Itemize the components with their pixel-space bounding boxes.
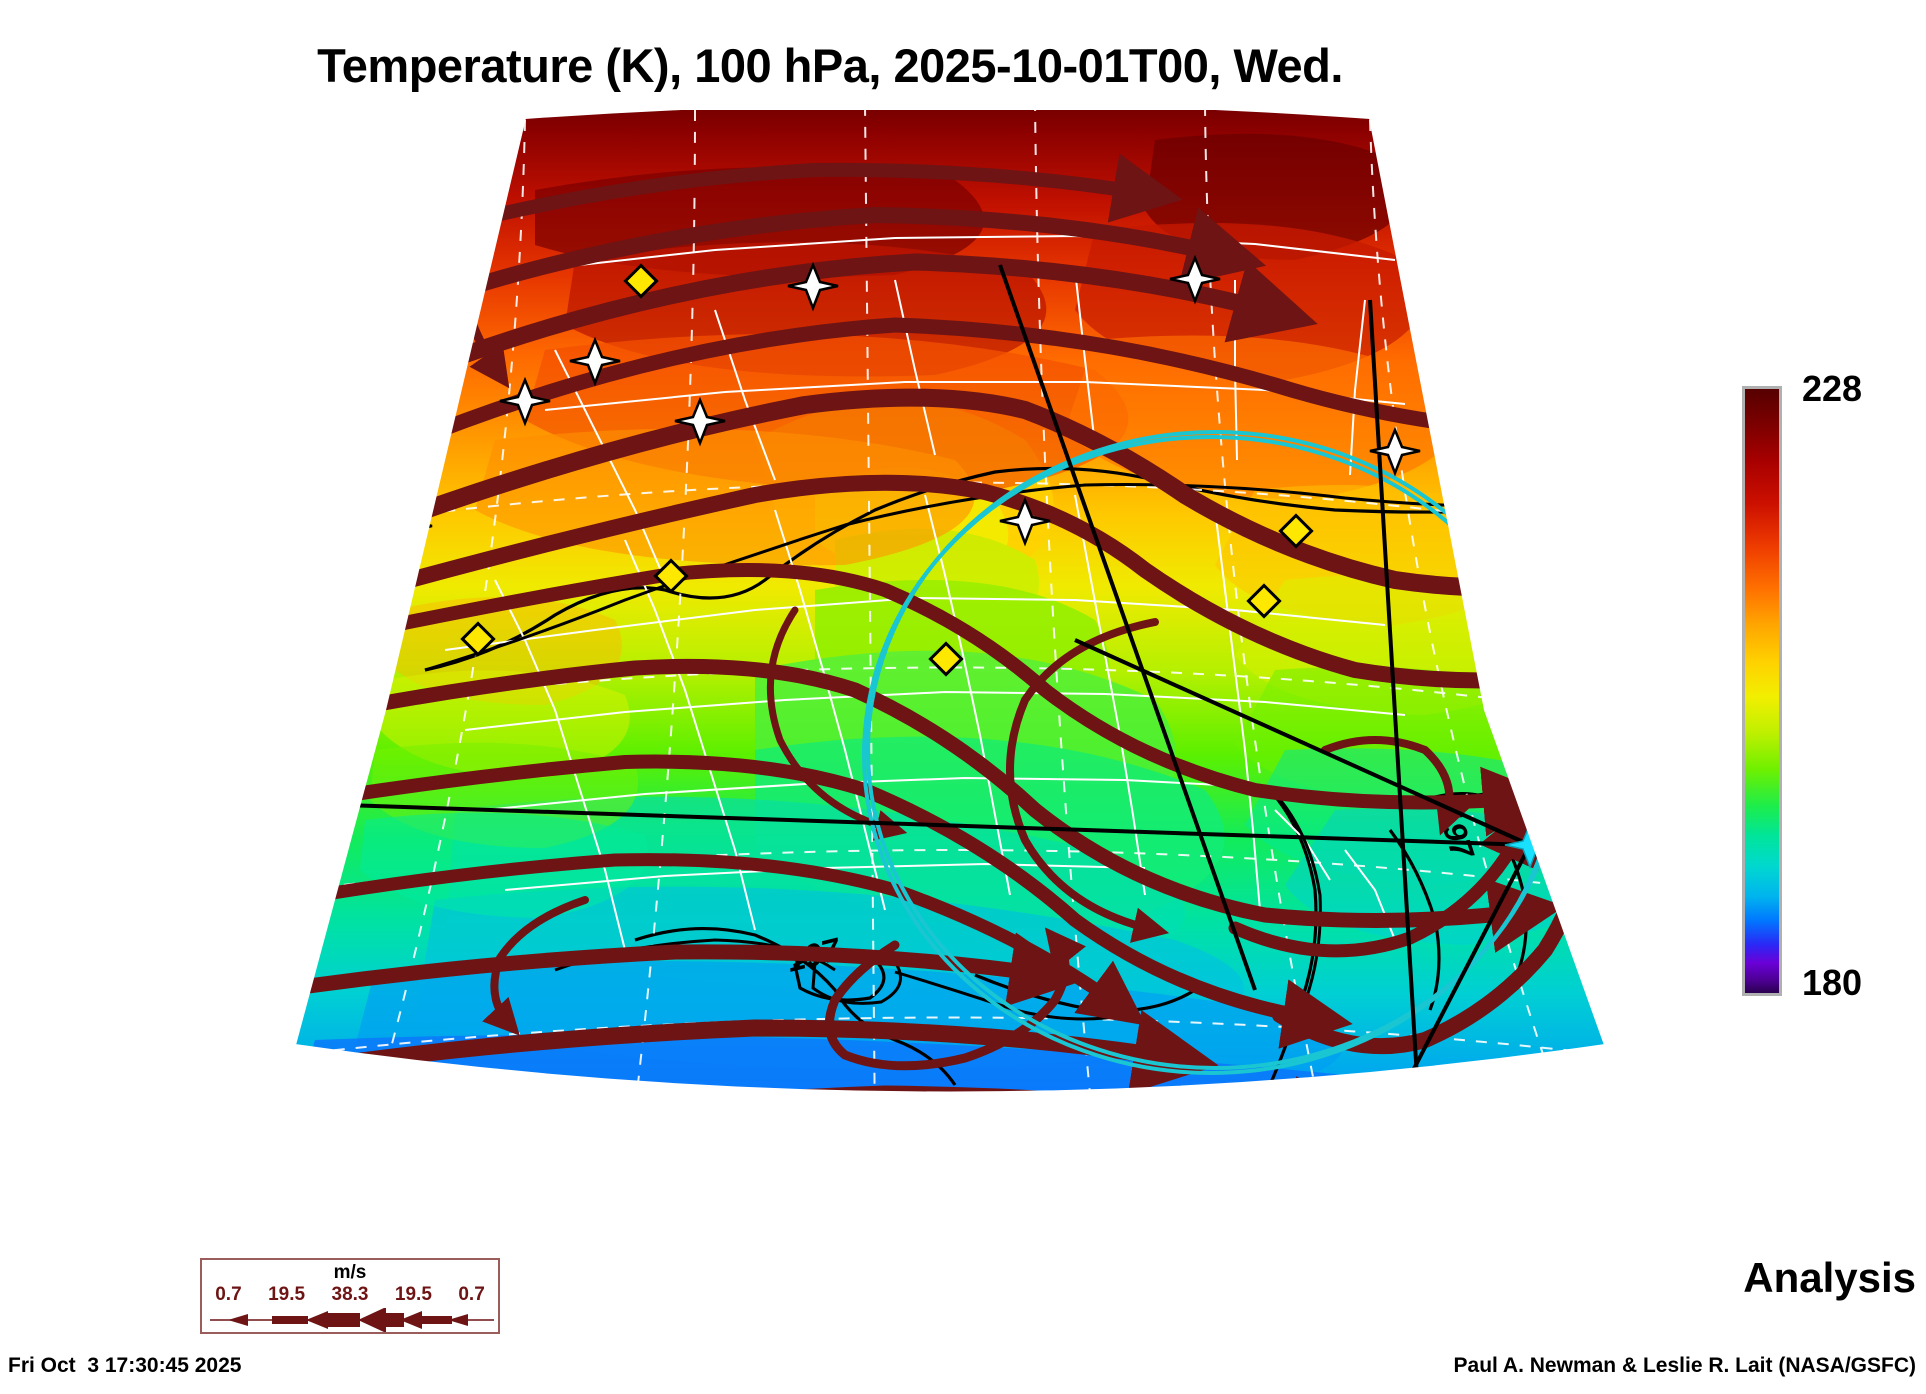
wind-speed-legend: m/s 0.7 19.5 38.3 19.5 0.7 — [200, 1258, 500, 1334]
wind-value-3: 38.3 — [332, 1284, 369, 1306]
wind-legend-units-label: m/s — [202, 1262, 498, 1284]
author-credit: Paul A. Newman & Leslie R. Lait (NASA/GS… — [1454, 1354, 1916, 1378]
wind-arrow-smallest — [228, 1314, 248, 1326]
wind-value-1: 0.7 — [215, 1284, 241, 1306]
colorbar-min-label: 180 — [1802, 962, 1862, 1004]
wind-value-5: 0.7 — [458, 1284, 484, 1306]
colorbar: 228 180 — [1742, 382, 1922, 1012]
wind-value-4: 19.5 — [395, 1284, 432, 1306]
map-panel[interactable]: 197 197 — [195, 110, 1705, 1250]
map-canvas[interactable]: 197 197 — [195, 110, 1705, 1250]
wind-arrow-medium-left — [306, 1311, 328, 1329]
wind-value-2: 19.5 — [268, 1284, 305, 1306]
analysis-label: Analysis — [1743, 1254, 1916, 1302]
colorbar-gradient — [1742, 386, 1782, 996]
page-title: Temperature (K), 100 hPa, 2025-10-01T00,… — [0, 38, 1660, 93]
wind-arrow-smallest-right — [448, 1314, 468, 1326]
generation-timestamp: Fri Oct 3 17:30:45 2025 — [8, 1354, 241, 1378]
wind-legend-values: 0.7 19.5 38.3 19.5 0.7 — [202, 1284, 498, 1306]
colorbar-max-label: 228 — [1802, 368, 1862, 410]
wind-legend-arrow-scale — [210, 1308, 494, 1332]
